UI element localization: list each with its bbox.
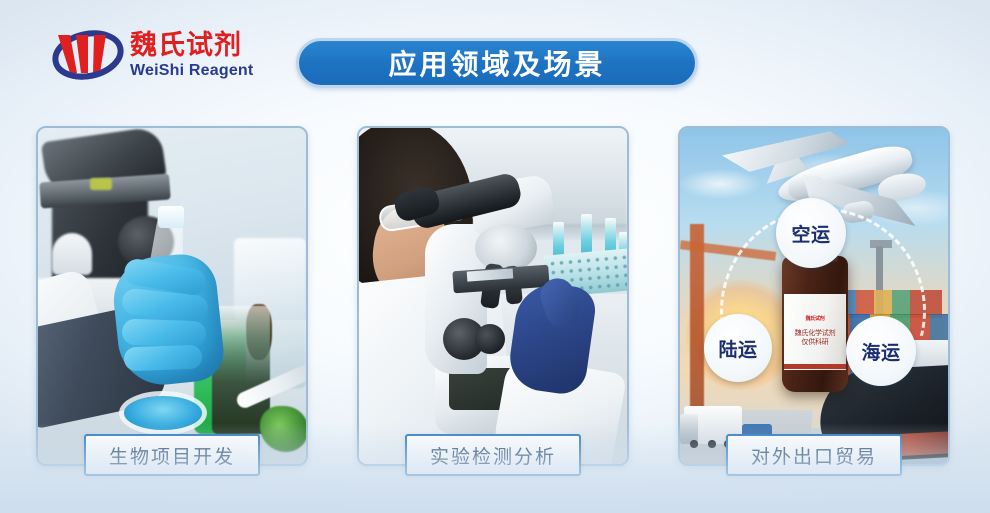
scenario-card-export-trade[interactable]: 魏氏试剂 魏氏化学试剂 仅供科研 空运 陆运 海运 xyxy=(678,126,950,466)
card-caption-label: 生物项目开发 xyxy=(109,442,235,469)
brand-name-en: WeiShi Reagent xyxy=(130,61,253,80)
badge-sea-freight: 海运 xyxy=(846,316,916,386)
badge-land-label: 陆运 xyxy=(718,335,757,362)
card-caption-bio-project-development: 生物项目开发 xyxy=(84,434,260,476)
card-caption-lab-testing-analysis: 实验检测分析 xyxy=(405,434,581,476)
page-title: 应用领域及场景 xyxy=(388,43,605,83)
badge-air-freight: 空运 xyxy=(776,198,846,268)
badge-air-label: 空运 xyxy=(791,220,830,247)
scenario-card-list: 魏氏试剂 魏氏化学试剂 仅供科研 空运 陆运 海运 xyxy=(0,126,990,476)
weishi-w-mark-icon xyxy=(48,25,126,87)
bottle-label-line2: 仅供科研 xyxy=(801,338,828,347)
scenario-card-bio-project-development[interactable] xyxy=(36,126,308,466)
lab-flask-photo xyxy=(38,128,306,464)
reagent-bottle-label: 魏氏试剂 魏氏化学试剂 仅供科研 xyxy=(784,294,846,370)
card-caption-label: 实验检测分析 xyxy=(430,442,556,469)
card-caption-export-trade: 对外出口贸易 xyxy=(726,434,902,476)
brand-logo-text: 魏氏试剂 WeiShi Reagent xyxy=(130,32,253,81)
bottle-brand-text: 魏氏试剂 xyxy=(806,317,825,322)
page-title-banner: 应用领域及场景 xyxy=(296,38,698,88)
slide-page: 魏氏试剂 WeiShi Reagent 应用领域及场景 xyxy=(0,0,990,513)
microscope-scientist-photo xyxy=(359,128,627,464)
scenario-card-lab-testing-analysis[interactable] xyxy=(357,126,629,466)
brand-name-cn: 魏氏试剂 xyxy=(130,32,253,60)
page-header: 魏氏试剂 WeiShi Reagent 应用领域及场景 xyxy=(0,0,990,112)
badge-land-freight: 陆运 xyxy=(704,314,772,382)
badge-sea-label: 海运 xyxy=(861,338,900,365)
bottle-label-line1: 魏氏化学试剂 xyxy=(795,329,836,338)
logistics-shipping-photo: 魏氏试剂 魏氏化学试剂 仅供科研 空运 陆运 海运 xyxy=(680,128,948,464)
card-caption-label: 对外出口贸易 xyxy=(751,442,877,469)
brand-logo[interactable]: 魏氏试剂 WeiShi Reagent xyxy=(48,22,278,90)
